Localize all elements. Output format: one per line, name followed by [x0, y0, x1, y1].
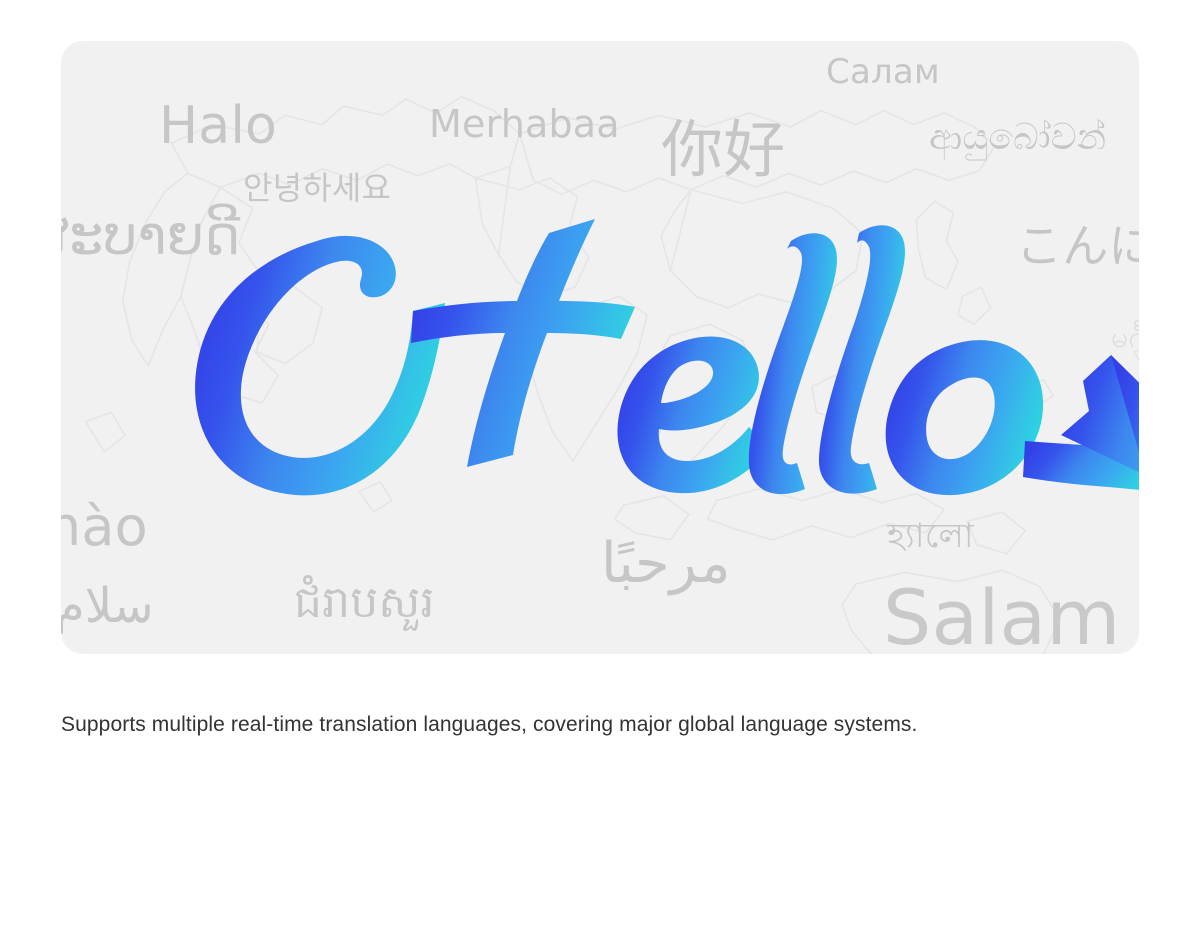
hello-wordmark [145, 205, 1139, 495]
greeting-indonesian: Halo [159, 100, 277, 152]
greeting-japanese: こんにちは [1016, 223, 1139, 269]
greeting-russian: Салам [826, 55, 940, 89]
greeting-bengali: হ্যালো [887, 519, 974, 553]
greeting-lao: ສະບາຍດີ [61, 209, 240, 263]
greeting-korean: 안녕하세요 [243, 172, 391, 204]
greeting-turkish: Merhabaa [429, 105, 620, 143]
page-root: ສະບາຍດີ Halo 안녕하세요 Merhabaa 你好 Салам ආයු… [0, 0, 1200, 949]
greeting-khmer: ជំរាបសួរ [294, 581, 435, 625]
greeting-words-layer: ສະບາຍດີ Halo 안녕하세요 Merhabaa 你好 Салам ආයු… [61, 41, 1139, 654]
greeting-urdu: سلام [61, 582, 154, 630]
greeting-sinhala: ආයුබෝවන් [929, 120, 1106, 156]
greeting-chinese: 你好 [661, 119, 785, 181]
translation-languages-card: ສະບາຍດີ Halo 안녕하세요 Merhabaa 你好 Салам ආයු… [61, 41, 1139, 654]
greeting-malay: Salam [883, 580, 1121, 654]
greeting-arabic: مرحبًا [601, 536, 730, 592]
card-caption: Supports multiple real-time translation … [61, 710, 1151, 740]
world-map-background [61, 41, 1139, 654]
greeting-vietnamese: Chào [61, 500, 148, 554]
greeting-burmese: မင်္ဂလာပါ [1111, 323, 1139, 353]
